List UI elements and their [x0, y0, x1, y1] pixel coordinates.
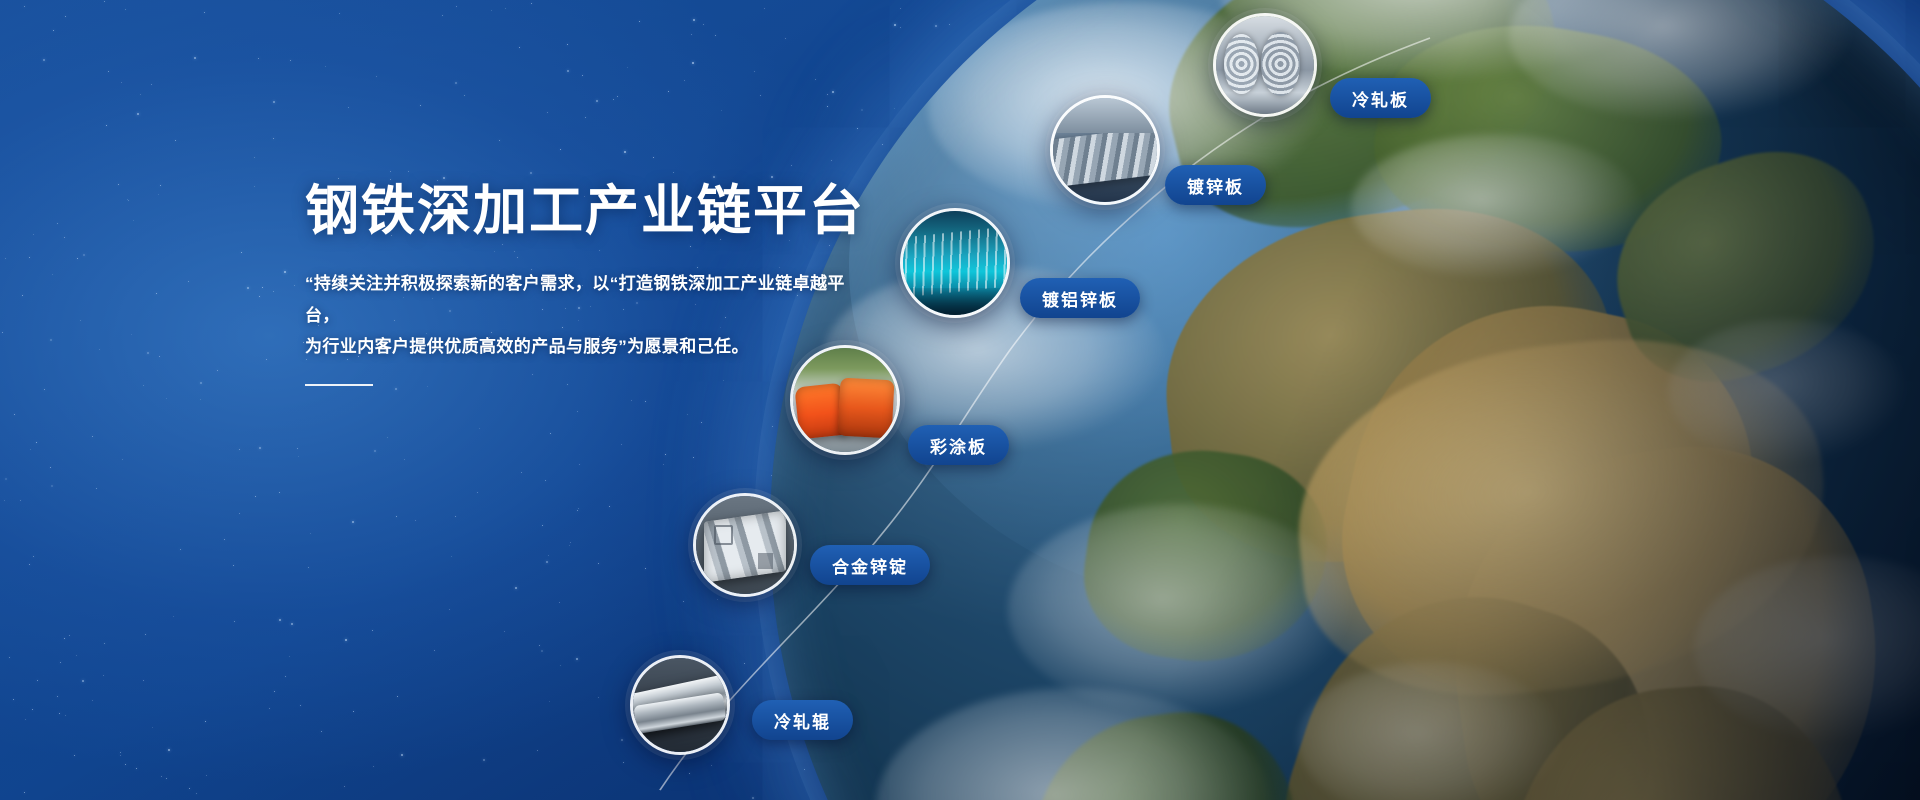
thumbnail-image — [1216, 16, 1314, 114]
product-label-galvanized-sheet[interactable]: 镀锌板 — [1165, 165, 1266, 205]
zinc-ingot-photo[interactable] — [693, 493, 797, 597]
thumbnail-image — [793, 348, 897, 452]
hero-banner: 钢铁深加工产业链平台 “持续关注并积极探索新的客户需求，以“打造钢铁深加工产业链… — [0, 0, 1920, 800]
cloud-layer — [1351, 134, 1641, 279]
roller-photo[interactable] — [630, 655, 730, 755]
hero-subtitle: “持续关注并积极探索新的客户需求，以“打造钢铁深加工产业链卓越平台， 为行业内客… — [305, 268, 865, 362]
product-label-galvalume-sheet[interactable]: 镀铝锌板 — [1020, 278, 1140, 318]
thumbnail-image — [633, 658, 727, 752]
thumbnail-image — [1053, 98, 1157, 202]
title-underline-rule — [305, 384, 373, 386]
subtitle-line-2: 为行业内客户提供优质高效的产品与服务”为愿景和己任。 — [305, 331, 865, 362]
thumbnail-image — [903, 211, 1007, 315]
teal-coil-photo[interactable] — [900, 208, 1010, 318]
page-title: 钢铁深加工产业链平台 — [305, 180, 925, 242]
steel-coil-photo[interactable] — [1213, 13, 1317, 117]
product-label-color-coated-sheet[interactable]: 彩涂板 — [908, 425, 1009, 465]
orange-coil-photo[interactable] — [790, 345, 900, 455]
product-label-cold-rolled-sheet[interactable]: 冷轧板 — [1330, 78, 1431, 118]
cloud-layer — [1668, 319, 1906, 464]
cloud-layer — [1008, 504, 1351, 715]
product-label-cold-rolling-roll[interactable]: 冷轧辊 — [752, 700, 853, 740]
product-label-zinc-alloy-ingot[interactable]: 合金锌锭 — [810, 545, 930, 585]
subtitle-line-1: “持续关注并积极探索新的客户需求，以“打造钢铁深加工产业链卓越平台， — [305, 268, 865, 331]
earth-globe — [770, 0, 1920, 800]
thumbnail-image — [696, 496, 794, 594]
warehouse-photo[interactable] — [1050, 95, 1160, 205]
